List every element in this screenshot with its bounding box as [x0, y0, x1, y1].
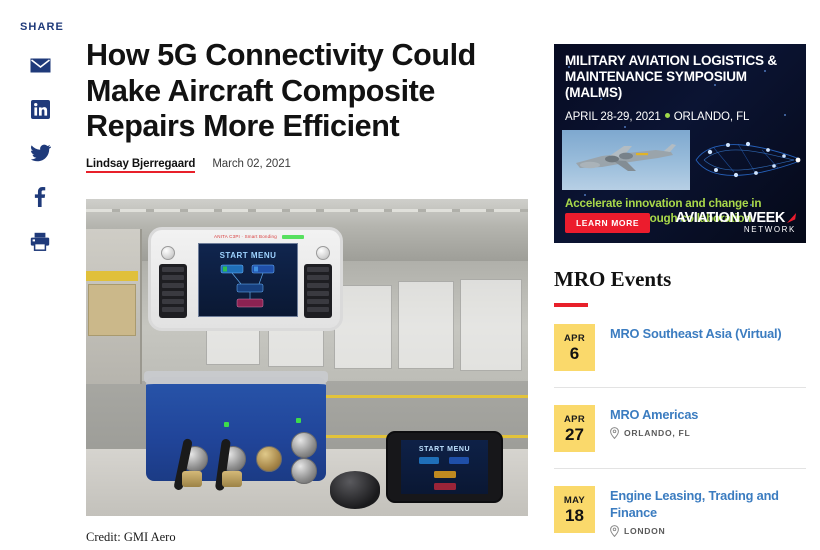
side-port — [291, 432, 317, 458]
event-list-item[interactable]: APR 27 MRO Americas ORLANDO, FL — [554, 388, 806, 469]
event-location: LONDON — [610, 525, 806, 537]
advertisement-banner[interactable]: MILITARY AVIATION LOGISTICS & MAINTENANC… — [554, 44, 806, 243]
status-led — [296, 418, 301, 423]
side-port — [291, 458, 317, 484]
event-body: Engine Leasing, Trading and Finance LOND… — [610, 486, 806, 537]
factory-scene: ANITA C3PI · Smart Bonding START MENU — [86, 199, 528, 516]
event-title-link[interactable]: Engine Leasing, Trading and Finance — [610, 487, 806, 521]
aviation-week-logo: AVIATION WEEK NETWORK — [676, 210, 797, 234]
twitter-share-icon[interactable] — [29, 142, 51, 164]
swoosh-icon — [786, 213, 797, 224]
event-title-link[interactable]: MRO Southeast Asia (Virtual) — [610, 325, 781, 342]
cargo-aircraft-icon — [572, 144, 680, 176]
linkedin-share-icon[interactable] — [29, 98, 51, 120]
page-title: How 5G Connectivity Could Make Aircraft … — [86, 38, 528, 145]
black-puck — [330, 471, 380, 509]
event-title-link[interactable]: MRO Americas — [610, 406, 698, 423]
device-case — [146, 377, 326, 481]
publish-date: March 02, 2021 — [212, 158, 291, 170]
event-day: 18 — [565, 507, 584, 525]
ad-date-location: APRIL 28-29, 2021ORLANDO, FL — [565, 111, 749, 123]
ad-logo-main-text: AVIATION WEEK — [676, 210, 797, 226]
article-column: How 5G Connectivity Could Make Aircraft … — [86, 0, 528, 545]
event-day: 27 — [565, 426, 584, 444]
ad-headline: MILITARY AVIATION LOGISTICS & MAINTENANC… — [565, 53, 798, 100]
ad-location: ORLANDO, FL — [674, 111, 750, 123]
brass-port — [256, 446, 282, 472]
equipment-rack — [398, 281, 454, 369]
keypad-left — [159, 264, 187, 318]
ad-logo-label: AVIATION WEEK — [676, 210, 785, 226]
equipment-rack — [460, 279, 522, 371]
tablet-screen: START MENU — [401, 440, 488, 494]
email-share-icon[interactable] — [29, 54, 51, 76]
ad-aircraft-photo — [562, 130, 690, 190]
status-leds — [282, 235, 304, 239]
left-yellow-panel — [86, 271, 138, 281]
event-list-item[interactable]: MAY 18 Engine Leasing, Trading and Finan… — [554, 469, 806, 550]
ad-learn-more-button[interactable]: LEARN MORE — [565, 213, 650, 233]
event-day: 6 — [570, 345, 579, 363]
event-month: APR — [564, 414, 585, 425]
ad-network-graphic — [694, 130, 804, 190]
ad-date: APRIL 28-29, 2021 — [565, 111, 661, 123]
power-led — [224, 422, 229, 427]
share-icon-list — [29, 54, 51, 252]
cable-cap — [222, 471, 242, 487]
event-list-item[interactable]: APR 6 MRO Southeast Asia (Virtual) — [554, 307, 806, 388]
share-label: SHARE — [20, 21, 64, 33]
byline: Lindsay Bjerregaard March 02, 2021 — [86, 158, 528, 173]
sidebar: MILITARY AVIATION LOGISTICS & MAINTENANC… — [554, 0, 806, 550]
print-icon[interactable] — [29, 230, 51, 252]
mro-events-title: MRO Events — [554, 267, 806, 292]
device-model-label: ANITA C3PI · Smart Bonding — [151, 234, 340, 239]
event-date-badge: APR 27 — [554, 405, 595, 452]
location-pin-icon — [610, 427, 619, 439]
share-rail: SHARE — [0, 0, 80, 550]
rugged-tablet: START MENU — [386, 431, 503, 503]
location-pin-icon — [610, 525, 619, 537]
keypad-right — [304, 264, 332, 318]
event-month: MAY — [564, 495, 585, 506]
event-body: MRO Southeast Asia (Virtual) — [610, 324, 781, 371]
mro-events-section: MRO Events APR 6 MRO Southeast Asia (Vir… — [554, 267, 806, 550]
image-caption: Credit: GMI Aero — [86, 530, 528, 545]
lid-knob-left — [161, 246, 175, 260]
cable-cap — [182, 471, 202, 487]
device-lid: ANITA C3PI · Smart Bonding START MENU — [148, 227, 343, 331]
facebook-share-icon[interactable] — [29, 186, 51, 208]
device-screen: START MENU — [198, 243, 298, 317]
ad-logo-sub-text: NETWORK — [676, 225, 796, 234]
lid-knob-right — [316, 246, 330, 260]
event-month: APR — [564, 333, 585, 344]
event-location-text: LONDON — [624, 526, 665, 536]
ad-bullet-icon — [665, 113, 670, 118]
cardboard-crate — [88, 284, 136, 336]
event-location: ORLANDO, FL — [610, 427, 698, 439]
event-date-badge: MAY 18 — [554, 486, 595, 533]
event-body: MRO Americas ORLANDO, FL — [610, 405, 698, 452]
event-location-text: ORLANDO, FL — [624, 428, 690, 438]
article-image: ANITA C3PI · Smart Bonding START MENU — [86, 199, 528, 516]
article-page: SHARE — [0, 0, 820, 550]
author-link[interactable]: Lindsay Bjerregaard — [86, 158, 195, 173]
event-date-badge: APR 6 — [554, 324, 595, 371]
